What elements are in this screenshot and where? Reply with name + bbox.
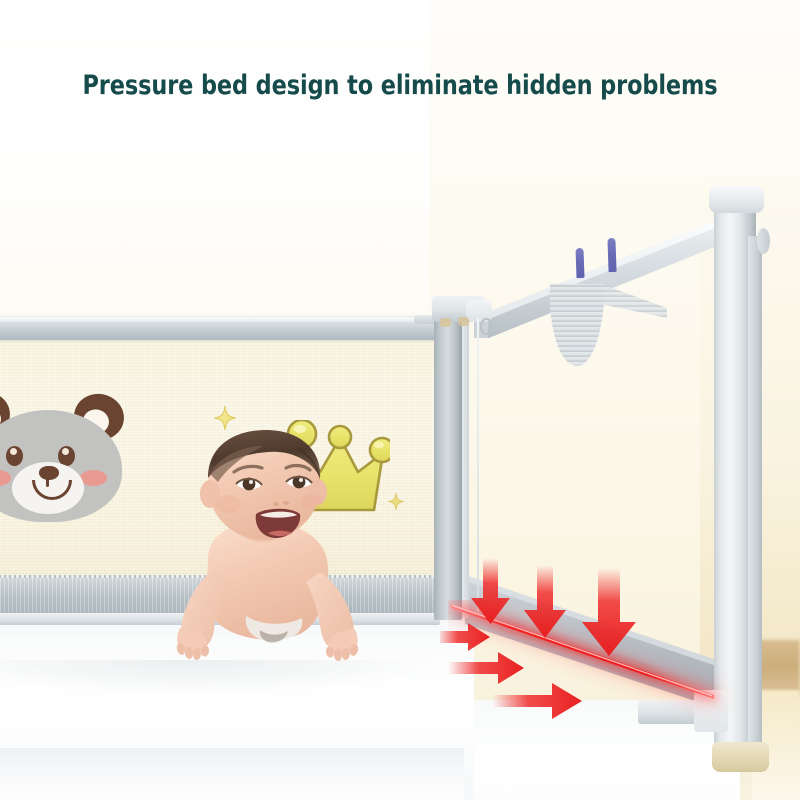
joint-screw-left [440, 318, 451, 327]
post-cap [709, 186, 764, 213]
bear-icon [0, 392, 134, 527]
bear-nose [39, 466, 59, 480]
joint-screw-right [458, 317, 469, 326]
right-arrow-group [440, 623, 582, 719]
top-rail-highlight [0, 317, 444, 322]
bear-eye-glint-left [10, 448, 17, 455]
pressure-arrows [440, 540, 690, 740]
bear-eye-glint-right [62, 448, 69, 455]
baby-photo [150, 430, 390, 680]
page-title: Pressure bed design to eliminate hidden … [24, 70, 776, 101]
post-release-knob[interactable] [757, 228, 770, 254]
down-arrow-group [471, 558, 636, 656]
blue-tab-right[interactable] [607, 238, 616, 272]
vertical-post-inner-rail [748, 236, 762, 744]
product-infographic: Pressure bed design to eliminate hidden … [0, 0, 800, 800]
mesh-drape-strap [545, 282, 665, 384]
bear-mouth-center [46, 478, 49, 487]
joint-ring-icon [480, 318, 493, 335]
bear-cheek-right [80, 470, 107, 486]
blue-tab-left[interactable] [575, 248, 584, 278]
bear-eye-left [6, 446, 23, 466]
post-pressure-foot [712, 742, 769, 772]
mattress-front-edge [0, 748, 464, 800]
